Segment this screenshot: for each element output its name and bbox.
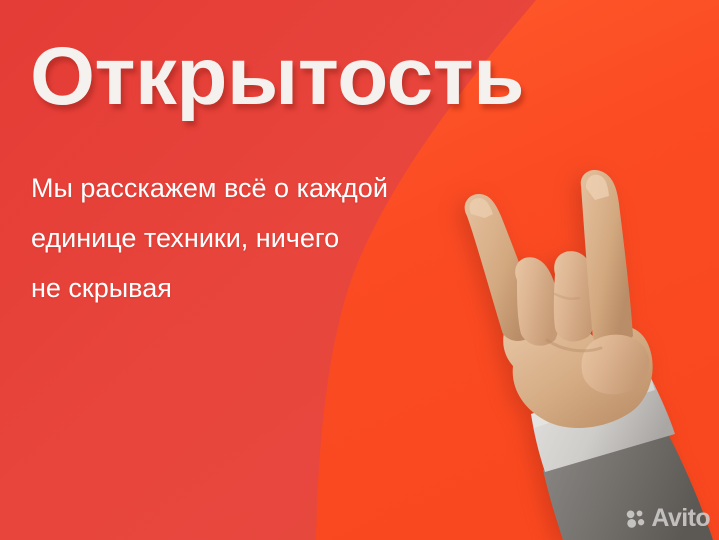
page-title: Открытость [30, 36, 524, 118]
promo-banner: Открытость Мы расскажем всё о каждой еди… [0, 0, 719, 540]
avito-watermark: Avito [625, 506, 710, 531]
subtitle-line-2: единице техники, ничего [31, 213, 388, 263]
subtitle-line-1: Мы расскажем всё о каждой [31, 163, 388, 213]
avito-dots-logo-icon [625, 508, 646, 529]
subtitle-line-3: не скрывая [31, 263, 388, 313]
subtitle-text: Мы расскажем всё о каждой единице техник… [31, 163, 388, 313]
avito-wordmark: Avito [651, 506, 710, 531]
